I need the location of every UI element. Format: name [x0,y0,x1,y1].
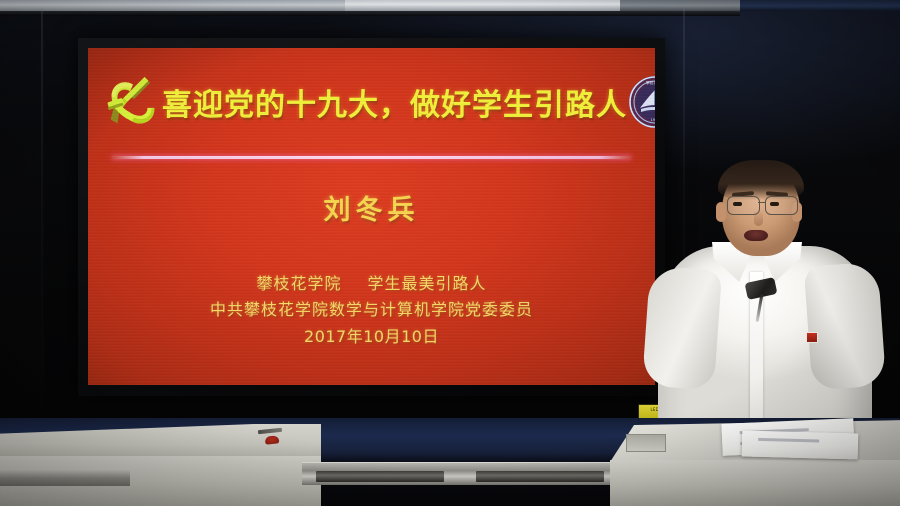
slide-title: 喜迎党的十九大，做好学生引路人 [162,80,627,124]
ceiling-segment-c [620,0,740,11]
affiliation-role: 中共攀枝花学院数学与计算机学院党委委员 [88,297,655,323]
university-seal-icon: 攀枝花学院 1983 [627,74,655,130]
wall-seam-left [41,8,43,428]
rail-right-slot [476,471,604,482]
ceiling-shadow [0,11,740,16]
slide-body: 刘冬兵 攀枝花学院学生最美引路人 中共攀枝花学院数学与计算机学院党委委员 201… [88,188,655,351]
ceiling-segment-d [740,0,900,11]
presenter-sleeve-right [804,262,886,391]
presentation-slide: 喜迎党的十九大，做好学生引路人 攀枝花学院 1983 [88,48,655,385]
slide-date: 2017年10月10日 [88,323,655,351]
document-on-desk [742,430,859,459]
sliding-rail-left[interactable] [302,462,462,485]
presenter-hair [718,160,804,200]
ceiling-segment-b [345,0,620,11]
presenter-nose [754,210,763,226]
slide-divider-line [112,156,631,159]
svg-text:1983: 1983 [650,118,655,122]
rail-left-slot [316,471,444,482]
presenter [640,160,900,450]
svg-text:攀枝花学院: 攀枝花学院 [646,80,655,85]
sliding-rail-far-left [0,470,130,486]
lectern-brand-logo-icon [265,435,280,444]
cpc-hammer-sickle-emblem [100,71,162,133]
affiliation-honor: 学生最美引路人 [368,274,487,293]
sliding-rail-right[interactable] [462,462,622,485]
ceiling-segment-a [0,0,345,11]
presenter-mouth [744,230,768,241]
lectern-right-front [610,460,900,506]
speaker-name: 刘冬兵 [88,188,655,227]
red-lapel-badge-icon [806,332,818,343]
affiliation-institution-line: 攀枝花学院学生最美引路人 [88,271,655,297]
lecture-video-frame: 喜迎党的十九大，做好学生引路人 攀枝花学院 1983 [0,0,900,506]
presenter-sleeve-left [642,266,722,391]
lectern-right-panel-slot [626,434,666,452]
ceiling-light-strip [0,0,900,11]
affiliation-institution: 攀枝花学院 [256,274,341,293]
presenter-eye-right [770,202,779,206]
document-text-line [758,438,818,443]
slide-header: 喜迎党的十九大，做好学生引路人 攀枝花学院 1983 [88,66,655,138]
presenter-eye-left [733,202,742,206]
lectern-panel-left [0,424,321,506]
